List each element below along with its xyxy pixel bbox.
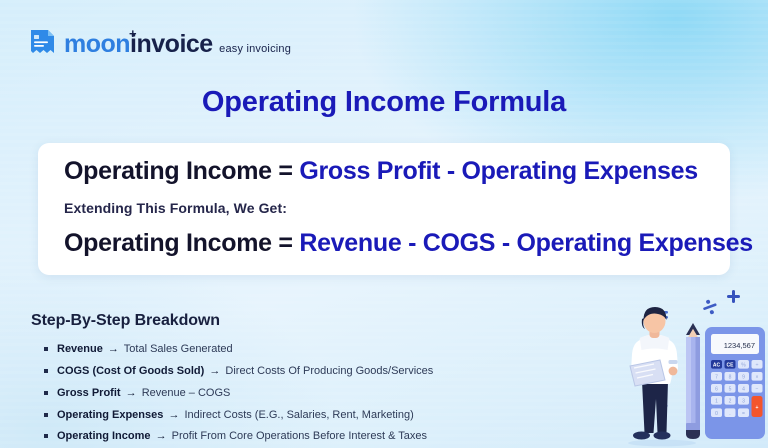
list-item: Gross Profit → Revenue – COGS [44,386,514,401]
formula-line-1: Operating Income = Gross Profit - Operat… [64,157,704,186]
formula-line-2-lhs: Operating Income = [64,229,299,257]
calculator-display-value: 1234,567 [724,341,755,350]
breakdown-heading: Step-By-Step Breakdown [31,312,220,330]
bullet-icon [44,434,48,438]
person-holding-document [630,307,678,440]
formula-line-1-rhs: Gross Profit - Operating Expenses [299,157,698,185]
brand-plus-icon: + [129,27,137,40]
formula-line-2: Operating Income = Revenue - COGS - Oper… [64,229,704,258]
arrow-icon: → [124,387,139,399]
page-title: Operating Income Formula [0,86,768,119]
formula-card: Operating Income = Gross Profit - Operat… [38,143,730,275]
plus-symbol-icon [727,290,740,303]
svg-text:8: 8 [729,374,732,380]
list-item-term: Gross Profit [57,387,121,399]
list-item: Operating Expenses → Indirect Costs (E.G… [44,408,514,423]
list-item-term: COGS (Cost Of Goods Sold) [57,365,204,377]
svg-text:−: − [756,386,759,392]
list-item-desc: Profit From Core Operations Before Inter… [172,430,427,442]
svg-text:5: 5 [729,386,732,392]
bullet-icon [44,413,48,417]
list-item: Operating Income → Profit From Core Oper… [44,429,514,444]
brand-logo[interactable]: mooninvoice + easy invoicing [29,29,291,59]
svg-text:CE: CE [727,362,735,368]
svg-text:6: 6 [715,386,718,392]
bullet-icon [44,347,48,351]
svg-text:0: 0 [715,411,718,417]
svg-text:×: × [756,374,759,380]
svg-text:÷: ÷ [756,362,759,368]
brand-tagline: easy invoicing [219,43,291,55]
svg-text:7: 7 [715,374,718,380]
list-item-term: Revenue [57,343,103,355]
calculator-illustration: 1234,567 AC CE % ÷ 7 8 9 × [600,280,768,448]
svg-text:3: 3 [742,398,745,404]
svg-text:9: 9 [742,374,745,380]
divide-symbol-icon [701,298,719,317]
brand-name-moon: moon [64,30,130,58]
list-item-desc: Revenue – COGS [142,387,231,399]
arrow-icon: → [154,430,169,442]
breakdown-list: Revenue → Total Sales Generated COGS (Co… [44,342,514,448]
formula-line-1-lhs: Operating Income = [64,157,299,185]
brand-wordmark: mooninvoice + easy invoicing [64,32,291,57]
arrow-icon: → [207,365,222,377]
bullet-icon [44,369,48,373]
list-item-desc: Direct Costs Of Producing Goods/Services [225,365,433,377]
list-item-term: Operating Income [57,430,151,442]
svg-text:%: % [741,362,746,368]
svg-text:.: . [729,411,730,417]
bullet-icon [44,391,48,395]
calculator: 1234,567 AC CE % ÷ 7 8 9 × [705,327,765,439]
arrow-icon: → [166,409,181,421]
svg-text:4: 4 [742,386,745,392]
list-item-desc: Indirect Costs (E.G., Salaries, Rent, Ma… [185,409,414,421]
brand-name-invoice: invoice [130,30,213,58]
svg-text:AC: AC [713,362,721,368]
list-item-term: Operating Expenses [57,409,163,421]
svg-text:+: + [756,405,759,411]
svg-text:=: = [742,411,745,417]
list-item: Revenue → Total Sales Generated [44,342,514,357]
svg-text:1: 1 [715,398,718,404]
formula-line-2-rhs: Revenue - COGS - Operating Expenses [299,229,753,257]
slide-canvas: mooninvoice + easy invoicing Operating I… [0,0,768,448]
arrow-icon: → [106,343,121,355]
list-item-desc: Total Sales Generated [124,343,233,355]
pencil-icon [686,323,700,439]
invoice-document-icon [29,29,56,59]
svg-text:2: 2 [729,398,732,404]
formula-subtitle: Extending This Formula, We Get: [64,200,704,216]
list-item: COGS (Cost Of Goods Sold) → Direct Costs… [44,364,514,379]
